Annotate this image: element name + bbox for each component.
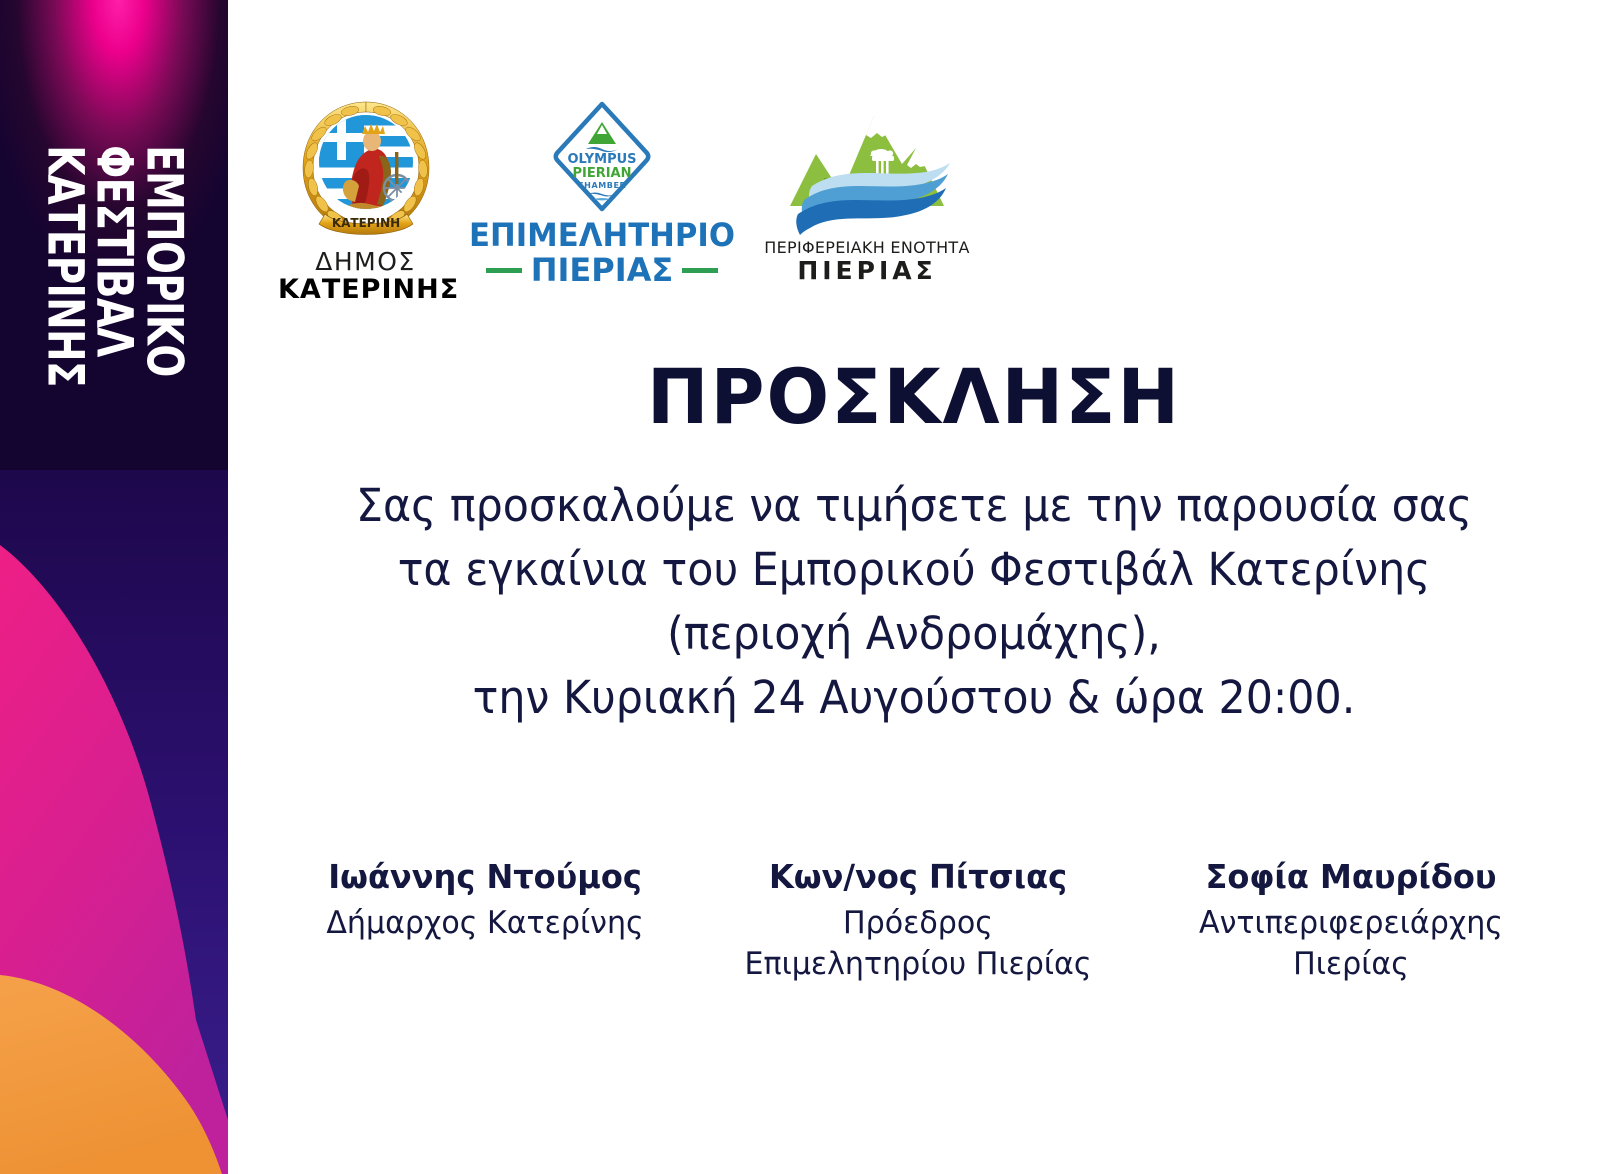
logo-row: ΚΑΤΕΡΙΝΗ ΔΗΜΟΣ ΚΑΤΕΡΙΝΗΣ OLYMPUS PIERIAN… — [252, 96, 982, 301]
decorative-sidebar: ΕΜΠΟΡΙΚΟ ΦΕΣΤΙΒΑΛ ΚΑΤΕΡΙΝΗΣ — [0, 0, 228, 1174]
logo-region-line-2: ΠΙΕΡΙΑΣ — [752, 257, 982, 286]
logo-pieria-regional-unit: ΠΕΡΙΦΕΡΕΙΑΚΗ ΕΝΟΤΗΤΑ ΠΙΕΡΙΑΣ — [752, 102, 982, 285]
page-title: ΠΡΟΣΚΛΗΣΗ — [249, 352, 1580, 441]
invitation-content: ΚΑΤΕΡΙΝΗ ΔΗΜΟΣ ΚΑΤΕΡΙΝΗΣ OLYMPUS PIERIAN… — [228, 0, 1600, 1174]
signature-block: Κων/νος Πίτσιας Πρόεδρος Επιμελητηρίου Π… — [728, 856, 1108, 984]
invitation-poster: ΕΜΠΟΡΙΚΟ ΦΕΣΤΙΒΑΛ ΚΑΤΕΡΙΝΗΣ — [0, 0, 1600, 1174]
logo-katerini-municipality: ΚΑΤΕΡΙΝΗ ΔΗΜΟΣ ΚΑΤΕΡΙΝΗΣ — [278, 96, 453, 304]
invitation-body-text: Σας προσκαλούμε να τιμήσετε με την παρου… — [288, 474, 1540, 730]
badge-text-line-1: OLYMPUS — [567, 152, 636, 167]
coat-of-arms-scroll-text: ΚΑΤΕΡΙΝΗ — [331, 216, 399, 230]
green-dash-right-icon — [682, 268, 718, 273]
badge-text-line-3: CHAMBER — [578, 181, 627, 190]
signatory-name: Σοφία Μαυρίδου — [1167, 856, 1536, 897]
olympus-mountain-column-waves-icon — [776, 102, 958, 235]
signature-block: Ιωάννης Ντούμος Δήμαρχος Κατερίνης — [295, 856, 675, 944]
olympus-pierian-chamber-badge-icon: OLYMPUS PIERIAN CHAMBER — [550, 100, 654, 213]
body-line-2: τα εγκαίνια του Εμπορικού Φεστιβάλ Κατερ… — [319, 538, 1508, 602]
logo-katerini-line-2: ΚΑΤΕΡΙΝΗΣ — [278, 275, 453, 304]
signature-block: Σοφία Μαυρίδου Αντιπεριφερειάρχης Πιερία… — [1161, 856, 1541, 984]
signatory-role: Αντιπεριφερειάρχης Πιερίας — [1167, 903, 1536, 984]
sidebar-gradient-waves-graphic — [0, 0, 228, 1174]
logo-katerini-line-1: ΔΗΜΟΣ — [278, 248, 453, 275]
signatory-role: Δήμαρχος Κατερίνης — [300, 903, 669, 943]
body-line-3: (περιοχή Ανδρομάχης), — [319, 602, 1508, 666]
body-line-4: την Κυριακή 24 Αυγούστου & ώρα 20:00. — [319, 666, 1508, 730]
signatory-name: Κων/νος Πίτσιας — [734, 856, 1103, 897]
logo-chamber-line-2-row: ΠΙΕΡΙΑΣ — [457, 254, 747, 288]
logo-pieria-chamber: OLYMPUS PIERIAN CHAMBER ΕΠΙΜΕΛΗΤΗΡΙΟ ΠΙΕ… — [457, 100, 747, 287]
badge-text-line-2: PIERIAN — [572, 166, 631, 181]
green-dash-left-icon — [486, 268, 522, 273]
signatures-row: Ιωάννης Ντούμος Δήμαρχος Κατερίνης Κων/ν… — [268, 856, 1568, 984]
signatory-role: Πρόεδρος Επιμελητηρίου Πιερίας — [734, 903, 1103, 984]
logo-region-line-1: ΠΕΡΙΦΕΡΕΙΑΚΗ ΕΝΟΤΗΤΑ — [752, 239, 982, 257]
katerini-coat-of-arms-icon: ΚΑΤΕΡΙΝΗ — [291, 96, 441, 244]
logo-chamber-line-2: ΠΙΕΡΙΑΣ — [531, 254, 674, 288]
signatory-name: Ιωάννης Ντούμος — [300, 856, 669, 897]
body-line-1: Σας προσκαλούμε να τιμήσετε με την παρου… — [319, 474, 1508, 538]
logo-chamber-line-1: ΕΠΙΜΕΛΗΤΗΡΙΟ — [463, 219, 741, 253]
